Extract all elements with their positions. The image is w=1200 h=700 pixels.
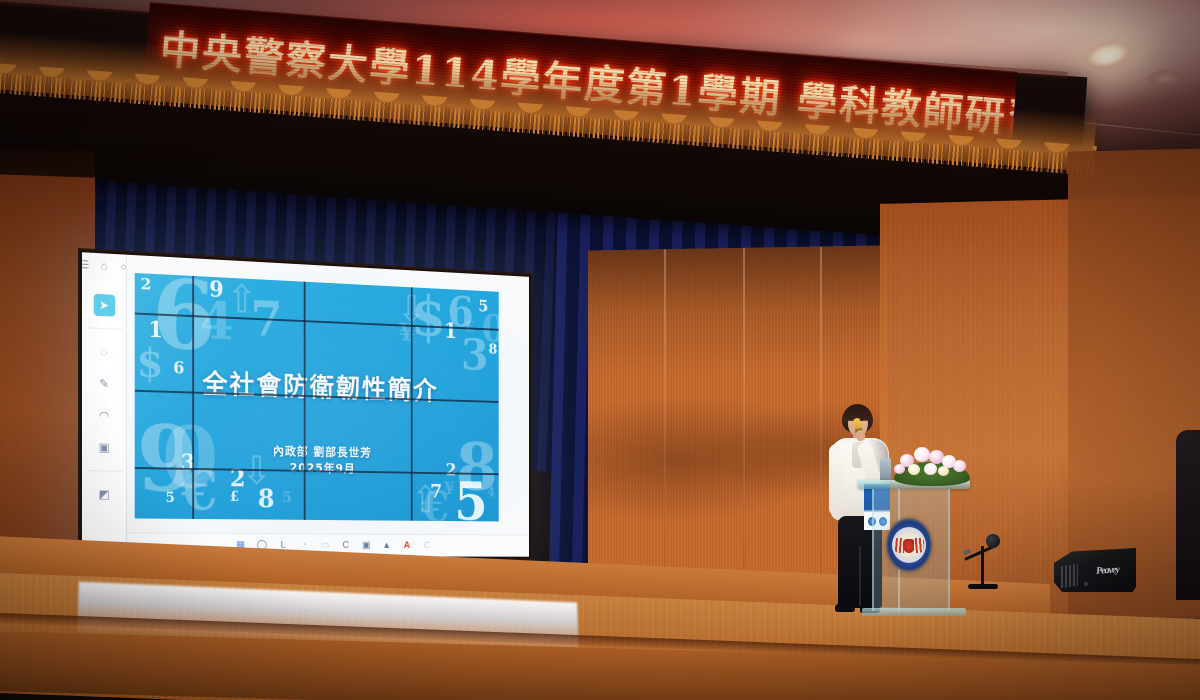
decor-number: 8: [489, 343, 498, 355]
chat-icon[interactable]: ▭: [320, 540, 331, 552]
decor-currency: $: [411, 293, 446, 341]
whiteboard-top-row: ☰ ⌂ ○: [82, 256, 130, 275]
ceiling-speaker-icon: [1148, 70, 1182, 86]
decor-number: 5: [166, 493, 175, 505]
screen-surface: ☰ ⌂ ○ ➤ ◌ ✎ ◠ ▣ ◩ 2 6 9: [82, 252, 529, 556]
presenter-left-arm: [829, 444, 844, 516]
floral-arrangement: [894, 440, 970, 486]
wood-panel-seam: [743, 248, 745, 598]
person-at-frame-edge: [1176, 430, 1200, 600]
edge-browser-icon[interactable]: C: [340, 540, 351, 551]
glass-podium: [866, 480, 962, 616]
boom-microphone-stand: [962, 528, 1010, 598]
slide-title: 全社會防衛韌性簡介: [135, 360, 499, 409]
flower-blossom: [953, 460, 966, 472]
onedrive-icon[interactable]: ▲: [381, 540, 392, 551]
eraser-tool[interactable]: ◠: [93, 404, 115, 426]
flower-blossom: [908, 464, 920, 475]
teams-icon[interactable]: ▣: [361, 540, 372, 551]
decor-currency: £: [465, 320, 475, 333]
menu-icon[interactable]: ☰: [82, 259, 91, 273]
decor-number: 5: [282, 491, 292, 504]
decor-currency: £: [230, 492, 239, 504]
speaker-grille: [1061, 564, 1078, 588]
microphone-capsule-icon: [986, 534, 1000, 548]
presentation-slide: 2 6 9 4 7 1 6 $ ⇧ ⇩ $ ¥ 5 6 0 1: [135, 273, 499, 522]
auditorium-scene: 中央警察大學114學年度第1學期 學科教師研習會 ☰ ⌂ ○ ➤ ◌ ✎: [0, 0, 1200, 700]
decor-number: 3: [461, 337, 488, 374]
decor-number: 1: [444, 323, 457, 341]
police-university-emblem-icon: [886, 518, 932, 572]
whiteboard-toolbar[interactable]: ☰ ⌂ ○ ➤ ◌ ✎ ◠ ▣ ◩: [82, 252, 127, 556]
wood-panel-seam: [664, 249, 666, 599]
home-icon[interactable]: ⌂: [98, 260, 111, 274]
cursor-tool[interactable]: ➤: [93, 294, 115, 317]
emblem-wing-right: [914, 538, 924, 553]
presenter-leg-seam: [859, 546, 861, 606]
decor-number: 4: [487, 488, 495, 499]
decor-number: 1: [148, 321, 163, 340]
water-bottle: [880, 458, 891, 482]
toolbar-divider: [86, 470, 121, 472]
image-tool[interactable]: ◩: [93, 483, 115, 505]
decor-number: 2: [141, 277, 152, 291]
flower-blossom: [924, 463, 937, 475]
decor-arrow-up-icon: ⇧: [226, 280, 257, 320]
wood-panel-seam: [820, 247, 822, 597]
decor-number: 5: [454, 480, 487, 521]
magnifier-tool[interactable]: ◌: [93, 341, 115, 364]
toolbar-divider: [86, 327, 121, 329]
speaker-port: [1084, 582, 1088, 586]
decor-currency: ¥: [399, 322, 415, 344]
pen-tool[interactable]: ✎: [93, 373, 115, 396]
shape-tool[interactable]: ▣: [93, 436, 115, 458]
slide-canvas[interactable]: 2 6 9 4 7 1 6 $ ⇧ ⇩ $ ¥ 5 6 0 1: [127, 255, 529, 557]
podium-base: [862, 608, 966, 616]
decor-arrow-up-icon: ⇧: [411, 481, 440, 519]
decor-currency: ¥: [444, 482, 455, 496]
flower-blossom: [894, 464, 905, 474]
stage-monitor-speaker: Peavey: [1054, 548, 1136, 594]
emblem-inner: [892, 527, 926, 563]
presenter-shoe-left: [835, 604, 855, 612]
decor-currency: €: [181, 468, 218, 515]
chrome-icon[interactable]: C: [422, 540, 432, 551]
flower-blossom: [914, 447, 930, 462]
projection-screen[interactable]: ☰ ⌂ ○ ➤ ◌ ✎ ◠ ▣ ◩ 2 6 9: [78, 248, 532, 560]
speaker-brand-logo: Peavey: [1096, 564, 1121, 577]
acrobat-reader-icon[interactable]: A: [402, 540, 413, 551]
flower-blossom: [938, 466, 949, 476]
